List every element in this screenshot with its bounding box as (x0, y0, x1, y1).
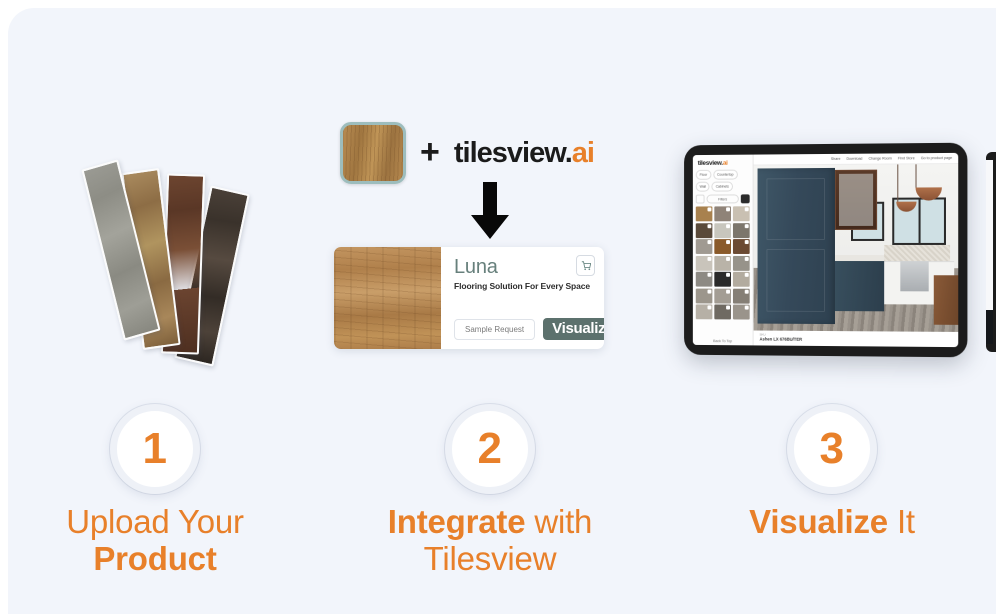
toolbar-item-share[interactable]: Share (831, 157, 841, 161)
down-arrow-svg (469, 182, 511, 240)
integration-header: + tilesview.ai (340, 122, 594, 184)
step-3-caption-bold: Visualize (749, 503, 888, 540)
room-caption-bold: Ashen LX 676BU/TER (760, 337, 959, 344)
toolbar-item-find-store[interactable]: Find Store (898, 156, 915, 160)
product-card-actions: Sample Request Visualize (454, 318, 604, 340)
tile-swatch-21[interactable] (733, 305, 750, 320)
tile-swatch-3[interactable] (733, 206, 750, 221)
tile-swatch-17[interactable] (714, 288, 731, 303)
tablet-device: tilesview.ai Floor Countertop Wall Cabin… (684, 143, 967, 358)
tile-swatch-8[interactable] (714, 239, 731, 254)
product-title: Luna (454, 256, 594, 278)
room-visualization (754, 164, 959, 332)
product-subtitle: Flooring Solution For Every Space (454, 281, 594, 291)
app-logo-name: tilesview (698, 160, 722, 167)
room-tall-cabinet (758, 168, 835, 324)
toolbar-item-change-room[interactable]: Change Room (869, 156, 892, 160)
edge-cutoff-device (986, 152, 996, 352)
product-card[interactable]: Luna Flooring Solution For Every Space S… (334, 247, 604, 349)
step-3-badge-wrap: 3 (672, 404, 992, 494)
visualize-button[interactable]: Visualize (543, 318, 604, 340)
step-2-caption-bold: Integrate (388, 503, 526, 540)
app-main: ShareDownloadChange RoomFind StoreGo to … (754, 153, 959, 347)
tile-swatch-grid (696, 206, 750, 319)
step-1-number: 1 (143, 427, 168, 471)
step-2-number: 2 (478, 427, 503, 471)
tile-swatch-10[interactable] (696, 255, 713, 270)
product-card-body: Luna Flooring Solution For Every Space S… (441, 247, 604, 349)
tile-swatch-13[interactable] (696, 272, 713, 287)
step-column-2: + tilesview.ai Luna Flooring Solution Fo… (330, 0, 650, 614)
tile-swatch-2[interactable] (714, 206, 731, 221)
product-card-image (334, 247, 441, 349)
tilesview-logo-suffix: ai (572, 137, 594, 169)
down-arrow-icon (330, 182, 650, 240)
tile-swatch-6[interactable] (733, 223, 750, 238)
grid-view-icon[interactable] (741, 194, 750, 203)
step-2-caption: Integrate with Tilesview (330, 503, 650, 577)
step-2-caption-regular: with (534, 503, 592, 540)
app-sidebar: tilesview.ai Floor Countertop Wall Cabin… (693, 155, 754, 346)
toolbar-item-download[interactable]: Download (846, 157, 862, 161)
tile-swatch-7[interactable] (696, 239, 713, 254)
room-chair (933, 275, 958, 325)
tile-swatch-19[interactable] (696, 304, 713, 319)
step-1-badge: 1 (110, 404, 200, 494)
tilesview-logo-name: tilesview (454, 137, 565, 169)
sidebar-search-row: Filters (696, 194, 750, 203)
step-2-caption-line2: Tilesview (424, 540, 557, 577)
cabinet-panel-upper (767, 178, 825, 240)
chip-floor[interactable]: Floor (696, 170, 711, 180)
step-3-badge: 3 (787, 404, 877, 494)
add-to-cart-button[interactable] (576, 255, 595, 276)
chip-countertop[interactable]: Countertop (713, 170, 737, 180)
sample-request-button[interactable]: Sample Request (454, 319, 535, 340)
tile-swatch-1[interactable] (696, 206, 713, 221)
shopping-cart-icon (581, 260, 591, 271)
pendant-cord-1 (916, 164, 917, 187)
room-lower-cabinets (831, 261, 884, 311)
app-logo: tilesview.ai (698, 160, 750, 167)
surface-chips: Floor Countertop Wall Cabinets (696, 170, 750, 192)
tile-swatch-14[interactable] (714, 272, 731, 287)
tile-swatch-11[interactable] (714, 255, 731, 270)
tilesview-logo-dot: . (565, 137, 572, 169)
wood-tile-swatch-icon (340, 122, 406, 184)
app-logo-suffix: ai (723, 160, 728, 167)
tilesview-logo: tilesview.ai (454, 137, 594, 170)
step-2-badge-wrap: 2 (330, 404, 650, 494)
step-2-badge: 2 (445, 404, 535, 494)
edge-device-dark-band (986, 310, 993, 344)
tile-swatch-5[interactable] (714, 223, 731, 238)
tile-swatch-4[interactable] (696, 223, 713, 238)
tile-swatch-12[interactable] (733, 255, 750, 270)
step-1-caption: Upload Your Product (14, 503, 296, 577)
chip-wall[interactable]: Wall (696, 182, 710, 192)
plus-icon: + (420, 135, 440, 169)
step-1-caption-line2: Product (93, 540, 216, 577)
screenshot-root: 1 Upload Your Product + tilesview.ai Lun… (0, 0, 996, 614)
step-3-caption-regular: It (897, 503, 915, 540)
room-stove (900, 261, 929, 291)
room-caption: SKU Ashen LX 676BU/TER (754, 331, 959, 348)
room-glass-cabinet (835, 170, 878, 230)
step-1-caption-line1: Upload Your (66, 503, 244, 540)
toolbar-item-go-to-product-page[interactable]: Go to product page (921, 156, 952, 160)
tile-swatch-15[interactable] (733, 272, 750, 287)
step-3-number: 3 (820, 427, 845, 471)
step-3-caption: Visualize It (672, 503, 992, 540)
pendant-cord-2 (897, 164, 898, 201)
tile-swatch-20[interactable] (714, 304, 731, 319)
flooring-planks-graphic (14, 160, 296, 360)
step-column-1: 1 Upload Your Product (14, 0, 296, 614)
tile-swatch-16[interactable] (696, 288, 713, 303)
tile-swatch-9[interactable] (733, 239, 750, 254)
cabinet-panel-lower (767, 249, 825, 311)
tablet-screen: tilesview.ai Floor Countertop Wall Cabin… (693, 153, 958, 347)
back-to-top-link[interactable]: Back To Top (693, 339, 753, 343)
chip-cabinets[interactable]: Cabinets (712, 182, 733, 192)
filters-dropdown[interactable]: Filters (707, 194, 739, 203)
step-1-badge-wrap: 1 (14, 404, 296, 494)
tile-swatch-18[interactable] (733, 288, 750, 303)
search-icon[interactable] (696, 195, 705, 204)
step-column-3: tilesview.ai Floor Countertop Wall Cabin… (672, 0, 992, 614)
